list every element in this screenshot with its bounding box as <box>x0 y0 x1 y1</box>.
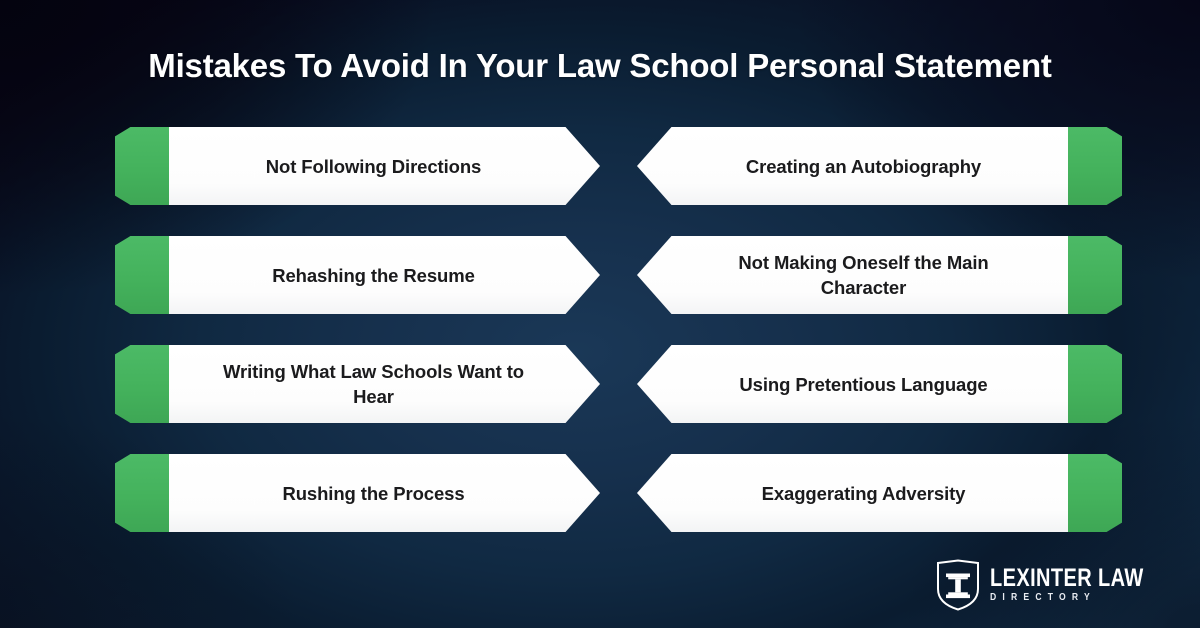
mistakes-column-right: Creating an Autobiography Not Making One… <box>637 127 1122 532</box>
mistake-plaque: Not Following Directions <box>169 127 600 205</box>
mistake-plaque: Writing What Law Schools Want to Hear <box>169 345 600 423</box>
brand-tagline: DIRECTORY <box>990 591 1155 604</box>
mistake-label: Writing What Law Schools Want to Hear <box>209 359 561 409</box>
mistake-plaque: Not Making Oneself the Main Character <box>637 236 1068 314</box>
mistakes-column-left: Not Following Directions Rehashing the R… <box>115 127 600 532</box>
mistake-item[interactable]: Not Following Directions <box>115 127 600 205</box>
page-title: Mistakes To Avoid In Your Law School Per… <box>0 44 1200 88</box>
mistake-item[interactable]: Not Making Oneself the Main Character <box>637 236 1122 314</box>
brand-wordmark: LEXINTER LAW DIRECTORY <box>990 565 1182 606</box>
mistake-label: Not Following Directions <box>209 154 561 179</box>
mistake-label: Creating an Autobiography <box>677 154 1029 179</box>
mistake-label: Exaggerating Adversity <box>677 481 1029 506</box>
mistake-item[interactable]: Using Pretentious Language <box>637 345 1122 423</box>
mistake-plaque: Rehashing the Resume <box>169 236 600 314</box>
mistake-item[interactable]: Rehashing the Resume <box>115 236 600 314</box>
mistake-item[interactable]: Creating an Autobiography <box>637 127 1122 205</box>
mistake-plaque: Rushing the Process <box>169 454 600 532</box>
brand-logo[interactable]: LEXINTER LAW DIRECTORY <box>935 554 1182 616</box>
mistake-label: Rehashing the Resume <box>209 263 561 288</box>
mistake-item[interactable]: Exaggerating Adversity <box>637 454 1122 532</box>
mistake-item[interactable]: Rushing the Process <box>115 454 600 532</box>
mistake-plaque: Using Pretentious Language <box>637 345 1068 423</box>
shield-column-icon <box>935 559 981 611</box>
mistake-item[interactable]: Writing What Law Schools Want to Hear <box>115 345 600 423</box>
infographic-canvas: Mistakes To Avoid In Your Law School Per… <box>0 0 1200 628</box>
mistake-label: Rushing the Process <box>209 481 561 506</box>
mistake-plaque: Creating an Autobiography <box>637 127 1068 205</box>
mistakes-grid: Not Following Directions Rehashing the R… <box>0 127 1200 532</box>
mistake-label: Not Making Oneself the Main Character <box>677 250 1029 300</box>
mistake-plaque: Exaggerating Adversity <box>637 454 1068 532</box>
mistake-label: Using Pretentious Language <box>677 372 1029 397</box>
brand-name: LEXINTER LAW <box>990 565 1144 591</box>
